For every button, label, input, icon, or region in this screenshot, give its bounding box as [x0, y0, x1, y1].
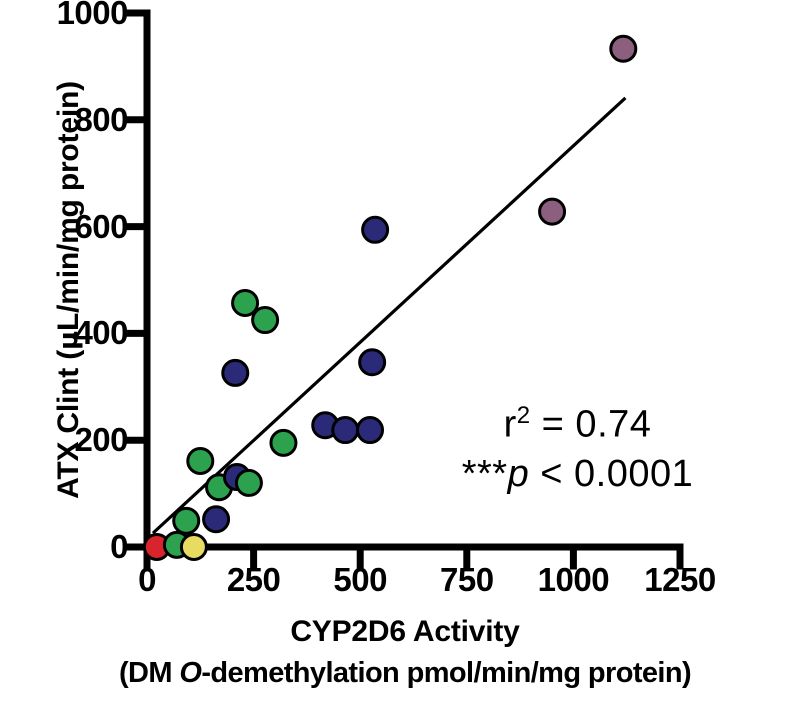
data-point-mauve [540, 199, 565, 224]
data-point-yellow [181, 535, 206, 560]
p-value-annotation: ***p < 0.0001 [430, 449, 725, 499]
r-squared-symbol: r [504, 404, 517, 446]
data-point-blue [223, 360, 248, 385]
data-point-mauve [611, 36, 636, 61]
data-point-green [233, 290, 258, 315]
plot-area [0, 0, 810, 706]
data-point-green [174, 508, 199, 533]
p-value-text: < 0.0001 [529, 453, 693, 495]
r-squared-exponent: 2 [517, 402, 531, 429]
statistics-annotation: r2 = 0.74 ***p < 0.0001 [430, 392, 725, 499]
scatter-plot-figure: ATX Clint (μL/min/mg protein) 0200400600… [0, 0, 810, 706]
data-point-green [188, 449, 213, 474]
data-point-blue [333, 418, 358, 443]
data-point-blue [363, 217, 388, 242]
data-point-blue [358, 418, 383, 443]
r-squared-value: = 0.74 [531, 404, 652, 446]
x-axis-title-line2-before: (DM [119, 657, 179, 689]
x-axis-title-line2-after: -demethylation pmol/min/mg protein) [201, 657, 691, 689]
p-symbol: p [508, 453, 530, 495]
significance-stars: *** [462, 453, 508, 495]
data-point-green [253, 308, 278, 333]
x-axis-title: CYP2D6 Activity (DM O-demethylation pmol… [0, 612, 810, 694]
data-point-blue [204, 507, 229, 532]
data-point-green [271, 430, 296, 455]
x-axis-title-italic-o: O [179, 657, 201, 689]
x-axis-title-line2: (DM O-demethylation pmol/min/mg protein) [0, 652, 810, 694]
data-point-blue [360, 350, 385, 375]
x-axis-title-line1: CYP2D6 Activity [0, 612, 810, 652]
r-squared-annotation: r2 = 0.74 [430, 392, 725, 449]
data-point-green [236, 470, 261, 495]
